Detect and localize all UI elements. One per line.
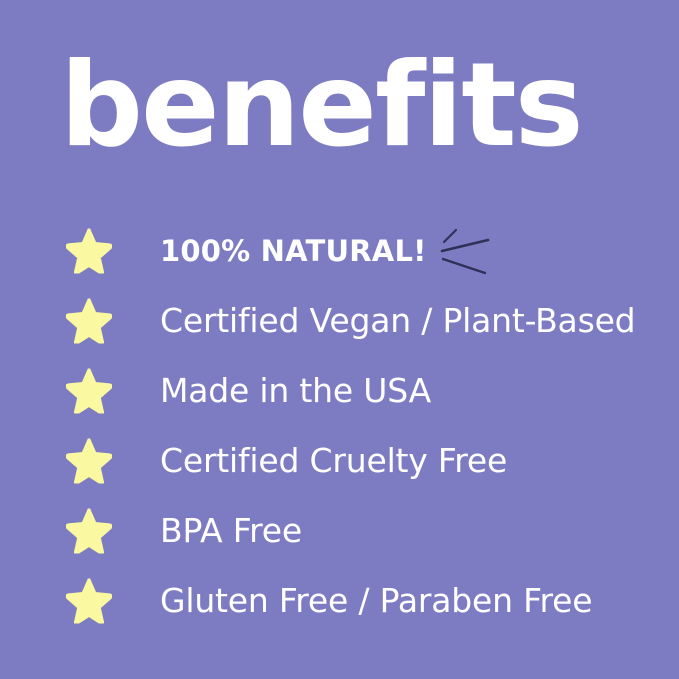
benefit-item-label: 100% NATURAL! [160,232,427,270]
star-icon [66,509,112,554]
benefit-item-label: Made in the USA [160,372,431,410]
benefit-item: BPA Free [0,496,679,566]
benefit-item: 100% NATURAL! [0,216,679,286]
page-title: benefits [60,46,620,166]
benefit-item: Made in the USA [0,356,679,426]
benefits-poster: benefits 100% NATURAL!Certified Vegan / … [0,0,679,679]
benefit-item-label: Certified Cruelty Free [160,442,507,480]
benefit-item-label: Gluten Free / Paraben Free [160,582,592,620]
sparkle-lines-icon [440,225,494,277]
benefit-item: Certified Vegan / Plant-Based [0,286,679,356]
benefit-item-label: BPA Free [160,512,302,550]
star-icon [66,299,112,344]
benefit-item-label: Certified Vegan / Plant-Based [160,302,635,340]
benefits-list: 100% NATURAL!Certified Vegan / Plant-Bas… [0,216,679,636]
benefit-item: Gluten Free / Paraben Free [0,566,679,636]
star-icon [66,579,112,624]
star-icon [66,229,112,274]
benefit-item: Certified Cruelty Free [0,426,679,496]
star-icon [66,369,112,414]
star-icon [66,439,112,484]
